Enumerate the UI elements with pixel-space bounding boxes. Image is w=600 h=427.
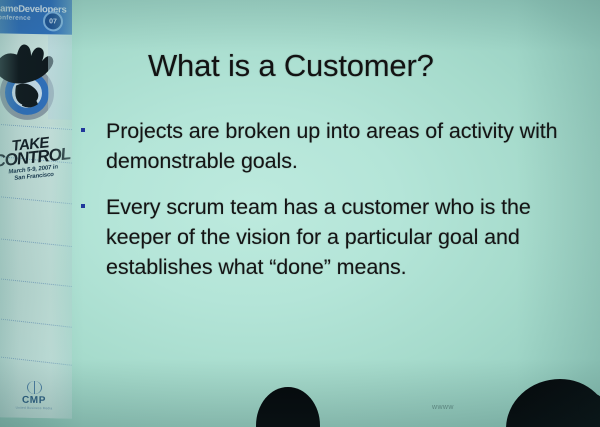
bullet-list: Projects are broken up into areas of act… [76,116,576,298]
square-bullet-icon [81,204,85,208]
page-title: What is a Customer? [148,49,548,83]
gdc-poster: GameDevelopers Conference 07 TAKE CONTRO… [0,0,72,419]
photo-frame: GameDevelopers Conference 07 TAKE CONTRO… [0,0,600,427]
list-item-text: Projects are broken up into areas of act… [106,116,576,176]
list-item: Projects are broken up into areas of act… [76,116,576,176]
list-item-text: Every scrum team has a customer who is t… [106,192,576,282]
poster-glare [0,0,72,419]
slide-footer-text: wwww [432,404,454,411]
square-bullet-icon [81,128,85,132]
list-item: Every scrum team has a customer who is t… [76,192,576,282]
